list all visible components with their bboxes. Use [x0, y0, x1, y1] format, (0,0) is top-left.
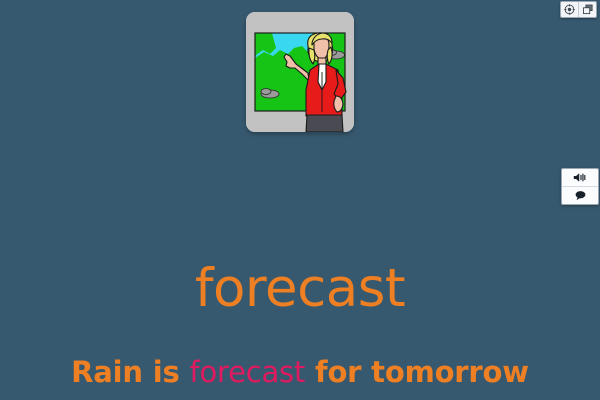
- example-sentence: Rain is forecast for tomorrow: [0, 356, 600, 389]
- media-panel: [561, 168, 599, 205]
- restore-window-button[interactable]: [578, 2, 596, 17]
- speech-bubble-icon: [574, 190, 587, 201]
- illustration-card: [246, 12, 354, 132]
- restore-window-icon: [582, 4, 594, 15]
- speaker-audio-icon: [573, 172, 587, 183]
- example-part-after: for tomorrow: [315, 355, 529, 389]
- settings-gear-icon: [564, 4, 575, 15]
- weather-presenter-illustration: [246, 12, 354, 132]
- play-audio-button[interactable]: [562, 169, 598, 186]
- comment-button[interactable]: [562, 186, 598, 204]
- settings-gear-button[interactable]: [561, 2, 578, 17]
- example-part-before: Rain is: [71, 355, 179, 389]
- window-toolbar: [560, 1, 597, 18]
- page-title: forecast: [0, 262, 600, 315]
- example-highlight-word: forecast: [189, 355, 305, 389]
